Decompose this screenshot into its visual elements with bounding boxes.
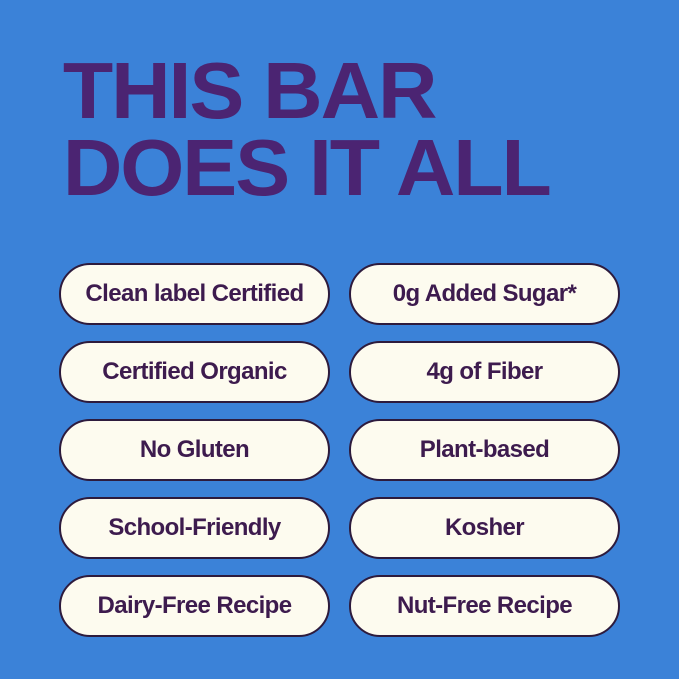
claim-badge-certified-organic: Certified Organic [59,341,330,403]
claim-badge-label: 4g of Fiber [426,360,542,384]
claim-badge-kosher: Kosher [349,497,620,559]
claim-badge-label: Nut-Free Recipe [397,594,572,618]
product-claims-poster: THIS BAR DOES IT ALL Clean label Certifi… [0,0,679,679]
claim-badge-label: No Gluten [140,438,249,462]
claim-badge-dairy-free-recipe: Dairy-Free Recipe [59,575,330,637]
claim-badge-grid: Clean label Certified 0g Added Sugar* Ce… [59,263,679,637]
headline-line-2: DOES IT ALL [63,129,658,206]
claim-badge-label: Certified Organic [102,360,287,384]
headline-line-1: THIS BAR [63,52,658,129]
claim-badge-label: Kosher [445,516,524,540]
page-title: THIS BAR DOES IT ALL [0,0,679,206]
claim-badge-nut-free-recipe: Nut-Free Recipe [349,575,620,637]
claim-badge-no-gluten: No Gluten [59,419,330,481]
claim-badge-label: School-Friendly [108,516,280,540]
claim-badge-school-friendly: School-Friendly [59,497,330,559]
claim-badge-label: Plant-based [420,438,549,462]
claim-badge-label: 0g Added Sugar* [393,282,576,306]
claim-badge-plant-based: Plant-based [349,419,620,481]
claim-badge-0g-added-sugar: 0g Added Sugar* [349,263,620,325]
claim-badge-4g-of-fiber: 4g of Fiber [349,341,620,403]
claim-badge-clean-label-certified: Clean label Certified [59,263,330,325]
claim-badge-label: Dairy-Free Recipe [98,594,292,618]
claim-badge-label: Clean label Certified [85,282,303,306]
